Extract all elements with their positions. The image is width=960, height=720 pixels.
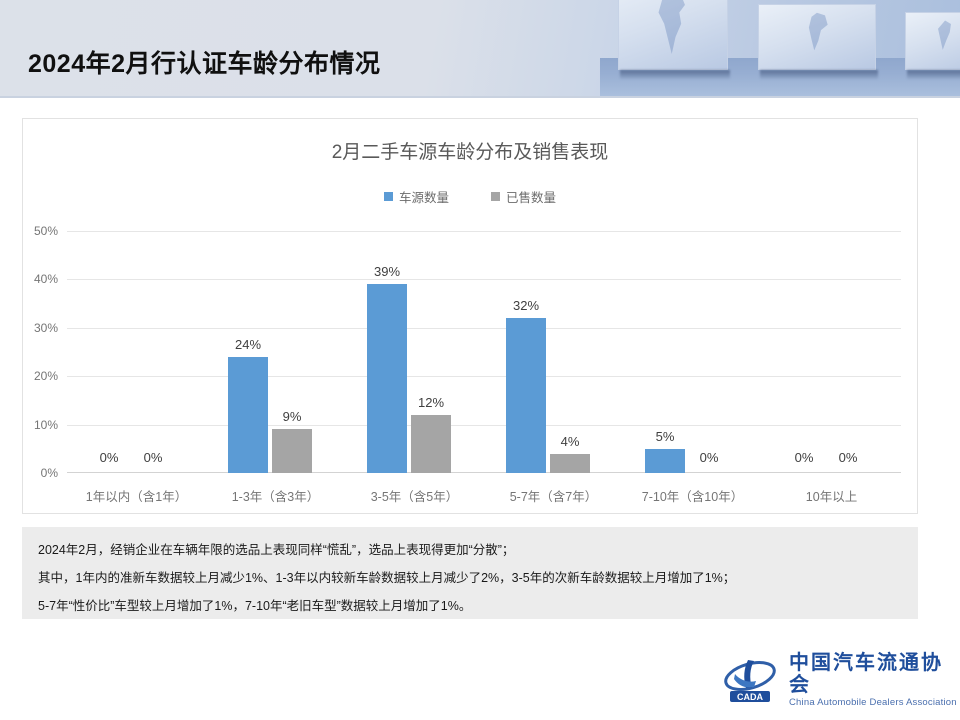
- world-map-icon: [638, 0, 709, 62]
- legend-item[interactable]: 车源数量: [384, 187, 449, 206]
- cube-face: [905, 12, 960, 70]
- chart-plot-area: 0%10%20%30%40%50%0%0%1年以内（含1年）24%9%1-3年（…: [67, 231, 901, 473]
- y-axis-tick-label: 40%: [34, 272, 58, 286]
- chart-bar-value-label: 32%: [513, 298, 539, 313]
- chart-bar[interactable]: 32%: [506, 318, 546, 473]
- header-divider: [0, 96, 960, 98]
- y-axis-tick-label: 10%: [34, 418, 58, 432]
- y-axis-tick-label: 30%: [34, 321, 58, 335]
- chart-bar-value-label: 0%: [144, 450, 163, 465]
- chart-bar-value-label: 12%: [418, 395, 444, 410]
- cada-mark-text: CADA: [737, 692, 763, 702]
- chart-category-group: 5%0%7-10年（含10年）: [623, 231, 762, 473]
- chart-bar[interactable]: 5%: [645, 449, 685, 473]
- chart-bar[interactable]: 24%: [228, 357, 268, 473]
- decorative-cube-icon: [758, 4, 876, 70]
- x-axis-tick-label: 1-3年（含3年）: [206, 486, 345, 505]
- x-axis-tick-label: 1年以内（含1年）: [67, 486, 206, 505]
- world-map-icon: [920, 17, 960, 64]
- chart-panel: 2月二手车源车龄分布及销售表现 车源数量 已售数量 0%10%20%30%40%…: [22, 118, 918, 514]
- organization-logo: CADA 中国汽车流通协会 China Automobile Dealers A…: [722, 652, 960, 709]
- note-line: 其中，1年内的准新车数据较上月减少1%、1-3年以内较新车龄数据较上月减少了2%…: [38, 564, 902, 592]
- chart-bar-value-label: 0%: [700, 450, 719, 465]
- legend-item[interactable]: 已售数量: [491, 187, 556, 206]
- chart-bar-value-label: 24%: [235, 337, 261, 352]
- cube-shadow: [907, 70, 960, 79]
- chart-bar[interactable]: 4%: [550, 454, 590, 473]
- chart-category-group: 24%9%1-3年（含3年）: [206, 231, 345, 473]
- chart-bar-value-label: 0%: [100, 450, 119, 465]
- x-axis-tick-label: 10年以上: [762, 486, 901, 505]
- cube-face: [758, 4, 876, 70]
- chart-bar-value-label: 9%: [283, 409, 302, 424]
- chart-category-group: 32%4%5-7年（含7年）: [484, 231, 623, 473]
- chart-title: 2月二手车源车龄分布及销售表现: [23, 137, 917, 164]
- chart-bar-value-label: 0%: [795, 450, 814, 465]
- note-line: 5-7年“性价比”车型较上月增加了1%，7-10年“老旧车型”数据较上月增加了1…: [38, 592, 902, 620]
- header-decoration-image: [600, 0, 960, 96]
- cube-shadow: [620, 70, 730, 79]
- logo-name-zh: 中国汽车流通协会: [789, 652, 960, 696]
- cada-emblem-svg: CADA: [722, 658, 780, 704]
- chart-bar-value-label: 5%: [656, 429, 675, 444]
- legend-swatch-icon: [491, 192, 500, 201]
- chart-category-group: 0%0%10年以上: [762, 231, 901, 473]
- summary-note-box: 2024年2月，经销企业在车辆年限的选品上表现同样“慌乱”，选品上表现得更加“分…: [22, 527, 918, 619]
- y-axis-tick-label: 50%: [34, 224, 58, 238]
- decorative-cube-icon: [905, 12, 960, 70]
- legend-label: 车源数量: [399, 187, 449, 206]
- cube-shadow: [760, 70, 878, 79]
- legend-swatch-icon: [384, 192, 393, 201]
- chart-bar-value-label: 0%: [839, 450, 858, 465]
- x-axis-tick-label: 7-10年（含10年）: [623, 486, 762, 505]
- y-axis-tick-label: 20%: [34, 369, 58, 383]
- legend-label: 已售数量: [506, 187, 556, 206]
- chart-legend: 车源数量 已售数量: [23, 187, 917, 206]
- chart-bar[interactable]: 39%: [367, 284, 407, 473]
- chart-bar-value-label: 4%: [561, 434, 580, 449]
- world-map-icon: [780, 10, 857, 64]
- chart-bar-value-label: 39%: [374, 264, 400, 279]
- x-axis-tick-label: 3-5年（含5年）: [345, 486, 484, 505]
- cube-face: [618, 0, 728, 70]
- slide: 2024年2月行认证车龄分布情况 2月二手车源车龄分布及销售表现 车源数量 已售…: [0, 0, 960, 720]
- chart-bar[interactable]: 12%: [411, 415, 451, 473]
- x-axis-tick-label: 5-7年（含7年）: [484, 486, 623, 505]
- chart-category-group: 0%0%1年以内（含1年）: [67, 231, 206, 473]
- chart-category-group: 39%12%3-5年（含5年）: [345, 231, 484, 473]
- y-axis-tick-label: 0%: [41, 466, 58, 480]
- note-line: 2024年2月，经销企业在车辆年限的选品上表现同样“慌乱”，选品上表现得更加“分…: [38, 536, 902, 564]
- logo-text-block: 中国汽车流通协会 China Automobile Dealers Associ…: [789, 652, 960, 709]
- logo-name-en: China Automobile Dealers Association: [789, 696, 960, 709]
- slide-header: 2024年2月行认证车龄分布情况: [0, 0, 960, 96]
- page-title: 2024年2月行认证车龄分布情况: [28, 44, 381, 80]
- chart-bar[interactable]: 9%: [272, 429, 312, 473]
- decorative-cube-icon: [618, 0, 728, 70]
- cada-emblem-icon: CADA: [722, 658, 780, 704]
